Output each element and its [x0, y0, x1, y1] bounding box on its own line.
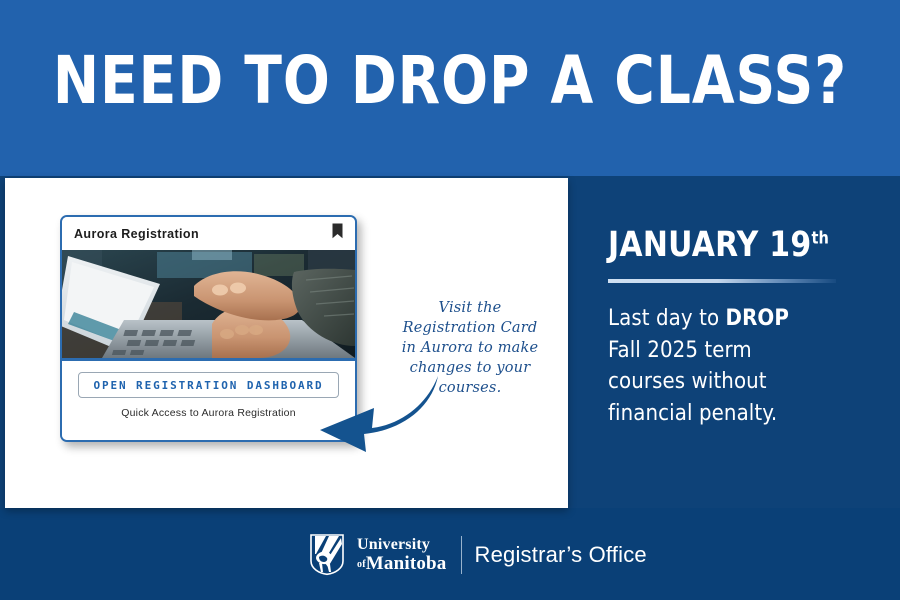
wordmark-manitoba: Manitoba [366, 553, 447, 574]
wordmark-line-2: ofManitoba [357, 554, 447, 573]
registrars-office-label: Registrar’s Office [475, 542, 647, 568]
bookmark-icon[interactable] [331, 223, 344, 244]
body-line-3: courses without [608, 366, 888, 398]
university-shield-bison-icon [306, 532, 348, 577]
body-line-1: Last day to DROP [608, 303, 888, 335]
date-month: JANUARY [608, 225, 759, 265]
note-line-1: Visit the [384, 298, 556, 318]
page-title: NEED TO DROP A CLASS? [32, 48, 869, 114]
footer-logo-lockup: University ofManitoba Registrar’s Office [306, 532, 647, 577]
curved-arrow-icon [300, 372, 440, 452]
university-wordmark: University ofManitoba [357, 537, 447, 573]
card-photo [62, 250, 355, 361]
note-line-3: in Aurora to make [384, 338, 556, 358]
date-heading: JANUARY 19th [608, 228, 829, 263]
card-header: Aurora Registration [62, 217, 355, 250]
date-underline-rule [608, 279, 836, 283]
poster: NEED TO DROP A CLASS? Aurora Registratio… [0, 0, 900, 600]
body-line-2: Fall 2025 term [608, 335, 888, 367]
body-line-4: financial penalty. [608, 398, 888, 430]
emphasis-drop: DROP [726, 306, 789, 331]
wordmark-of: of [357, 559, 366, 570]
note-line-2: Registration Card [384, 318, 556, 338]
card-caption: Quick Access to Aurora Registration [121, 407, 296, 419]
wordmark-line-1: University [357, 537, 447, 553]
date-ordinal: th [812, 228, 829, 248]
card-title: Aurora Registration [74, 227, 199, 241]
info-body-copy: Last day to DROP Fall 2025 term courses … [608, 303, 888, 430]
logo-divider [461, 536, 462, 574]
date-day: 19 [769, 225, 811, 265]
